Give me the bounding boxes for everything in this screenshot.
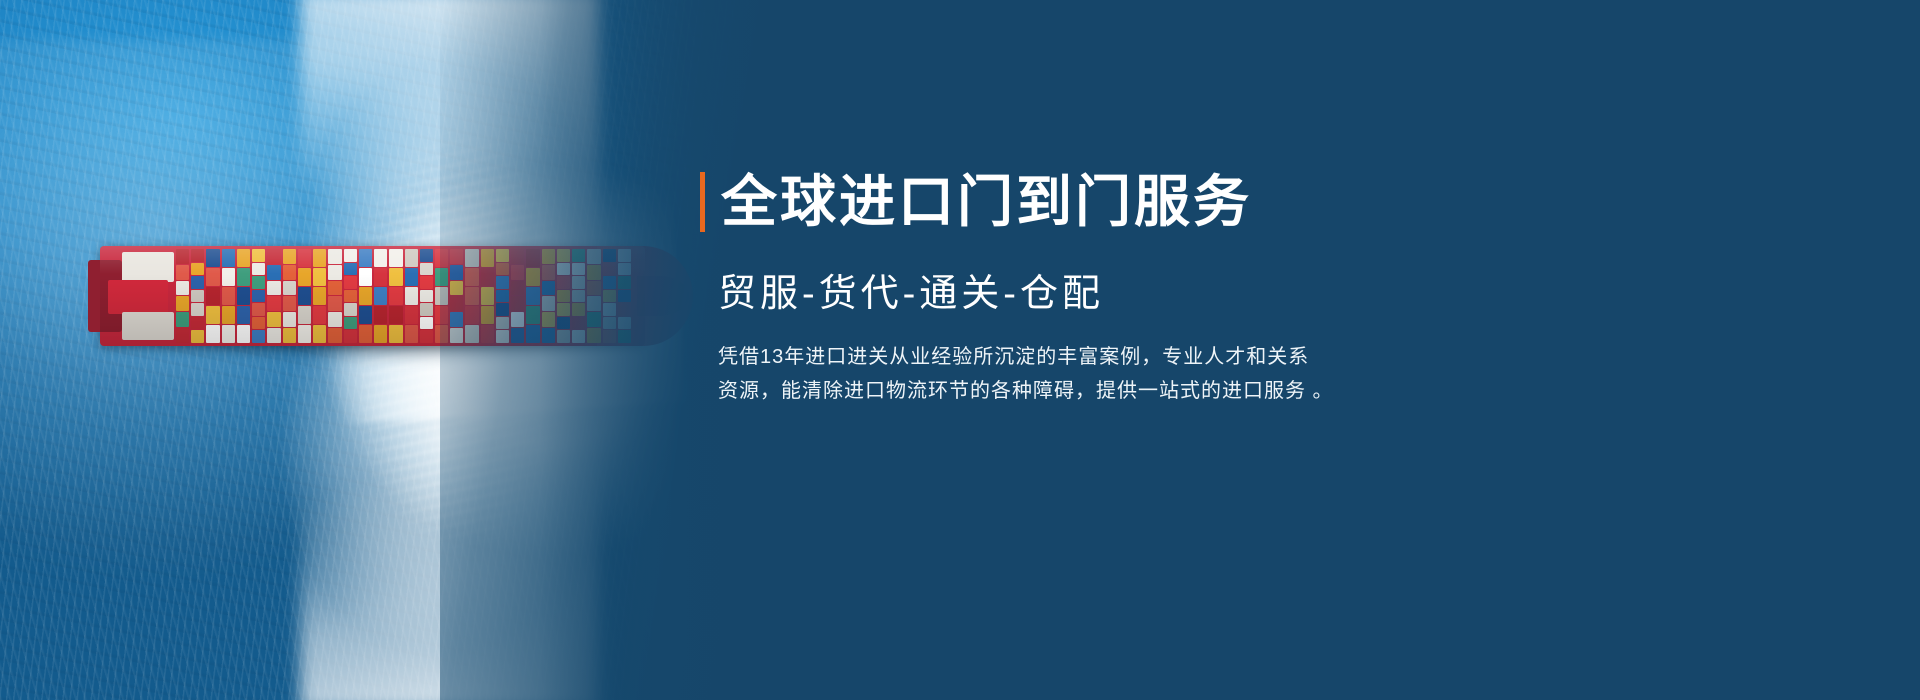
shipping-container (206, 306, 219, 324)
shipping-container (267, 296, 280, 311)
shipping-container (328, 328, 341, 343)
container-stack (420, 249, 433, 343)
shipping-container (191, 290, 204, 303)
shipping-container (389, 249, 402, 267)
shipping-container (191, 263, 204, 276)
shipping-container (252, 263, 265, 276)
container-stack (328, 249, 341, 343)
shipping-container (176, 312, 189, 327)
shipping-container (405, 249, 418, 267)
accent-bar-icon (700, 172, 705, 232)
description-line-1: 凭借13年进口进关从业经验所沉淀的丰富案例，专业人才和关系 (718, 340, 1428, 374)
shipping-container (420, 249, 433, 262)
shipping-container (252, 249, 265, 262)
shipping-container (237, 287, 250, 305)
hero-banner: 全球进口门到门服务 贸服-货代-通关-仓配 凭借13年进口进关从业经验所沉淀的丰… (0, 0, 1920, 700)
description-line-2: 资源，能清除进口物流环节的各种障碍，提供一站式的进口服务 。 (718, 374, 1428, 408)
shipping-container (222, 249, 235, 267)
shipping-container (222, 306, 235, 324)
banner-content: 全球进口门到门服务 贸服-货代-通关-仓配 凭借13年进口进关从业经验所沉淀的丰… (700, 0, 1480, 700)
shipping-container (374, 249, 387, 267)
shipping-container (374, 306, 387, 324)
shipping-container (328, 312, 341, 327)
shipping-container (389, 306, 402, 324)
container-stack (252, 249, 265, 343)
shipping-container (313, 325, 326, 343)
shipping-container (420, 263, 433, 276)
shipping-container (328, 281, 341, 296)
shipping-container (420, 330, 433, 343)
container-stack (283, 249, 296, 343)
title-row: 全球进口门到门服务 (700, 172, 1252, 232)
shipping-container (283, 312, 296, 327)
shipping-container (298, 249, 311, 267)
shipping-container (328, 265, 341, 280)
shipping-container (191, 303, 204, 316)
shipping-container (176, 249, 189, 264)
shipping-container (283, 296, 296, 311)
shipping-container (252, 317, 265, 330)
container-stack (191, 249, 204, 343)
container-stack (374, 249, 387, 343)
container-stack (176, 249, 189, 343)
container-stack (222, 249, 235, 343)
shipping-container (298, 287, 311, 305)
shipping-container (313, 287, 326, 305)
shipping-container (237, 306, 250, 324)
shipping-container (267, 312, 280, 327)
container-stack (206, 249, 219, 343)
shipping-container (420, 276, 433, 289)
shipping-container (252, 290, 265, 303)
shipping-container (222, 268, 235, 286)
shipping-container (313, 268, 326, 286)
shipping-container (191, 330, 204, 343)
banner-description: 凭借13年进口进关从业经验所沉淀的丰富案例，专业人才和关系 资源，能清除进口物流… (718, 340, 1428, 408)
shipping-container (252, 330, 265, 343)
banner-title: 全球进口门到门服务 (721, 174, 1252, 230)
shipping-container (283, 281, 296, 296)
ship-deck-structure-aft (122, 312, 174, 340)
container-stack (359, 249, 372, 343)
shipping-container (344, 249, 357, 262)
shipping-container (191, 317, 204, 330)
shipping-container (359, 287, 372, 305)
container-stack (344, 249, 357, 343)
shipping-container (252, 276, 265, 289)
shipping-container (420, 303, 433, 316)
shipping-container (359, 268, 372, 286)
shipping-container (359, 325, 372, 343)
banner-subtitle: 贸服-货代-通关-仓配 (718, 272, 1104, 318)
shipping-container (252, 303, 265, 316)
shipping-container (328, 249, 341, 264)
shipping-container (206, 287, 219, 305)
shipping-container (176, 281, 189, 296)
shipping-container (267, 265, 280, 280)
shipping-container (222, 287, 235, 305)
shipping-container (176, 328, 189, 343)
shipping-container (237, 325, 250, 343)
shipping-container (344, 290, 357, 303)
container-stack (267, 249, 280, 343)
shipping-container (283, 249, 296, 264)
shipping-container (191, 276, 204, 289)
shipping-container (222, 325, 235, 343)
container-stack (313, 249, 326, 343)
shipping-container (298, 268, 311, 286)
shipping-container (374, 287, 387, 305)
shipping-container (267, 249, 280, 264)
shipping-container (344, 276, 357, 289)
shipping-container (298, 306, 311, 324)
shipping-container (344, 263, 357, 276)
shipping-container (267, 328, 280, 343)
shipping-container (389, 268, 402, 286)
shipping-container (206, 268, 219, 286)
shipping-container (298, 325, 311, 343)
shipping-container (405, 325, 418, 343)
shipping-container (176, 296, 189, 311)
container-stack (298, 249, 311, 343)
ship-deck-structure-fore (122, 252, 174, 282)
shipping-container (237, 249, 250, 267)
shipping-container (344, 330, 357, 343)
shipping-container (237, 268, 250, 286)
container-stack (405, 249, 418, 343)
shipping-container (359, 306, 372, 324)
shipping-container (176, 265, 189, 280)
shipping-container (359, 249, 372, 267)
shipping-container (283, 265, 296, 280)
shipping-container (420, 290, 433, 303)
shipping-container (389, 287, 402, 305)
shipping-container (344, 317, 357, 330)
shipping-container (344, 303, 357, 316)
shipping-container (405, 268, 418, 286)
shipping-container (405, 287, 418, 305)
shipping-container (374, 268, 387, 286)
shipping-container (420, 317, 433, 330)
container-stack (389, 249, 402, 343)
shipping-container (206, 325, 219, 343)
shipping-container (313, 249, 326, 267)
shipping-container (389, 325, 402, 343)
shipping-container (313, 306, 326, 324)
shipping-container (328, 296, 341, 311)
container-stack (237, 249, 250, 343)
shipping-container (206, 249, 219, 267)
shipping-container (374, 325, 387, 343)
shipping-container (191, 249, 204, 262)
shipping-container (283, 328, 296, 343)
shipping-container (267, 281, 280, 296)
shipping-container (405, 306, 418, 324)
ship-bridge-house (108, 280, 168, 314)
